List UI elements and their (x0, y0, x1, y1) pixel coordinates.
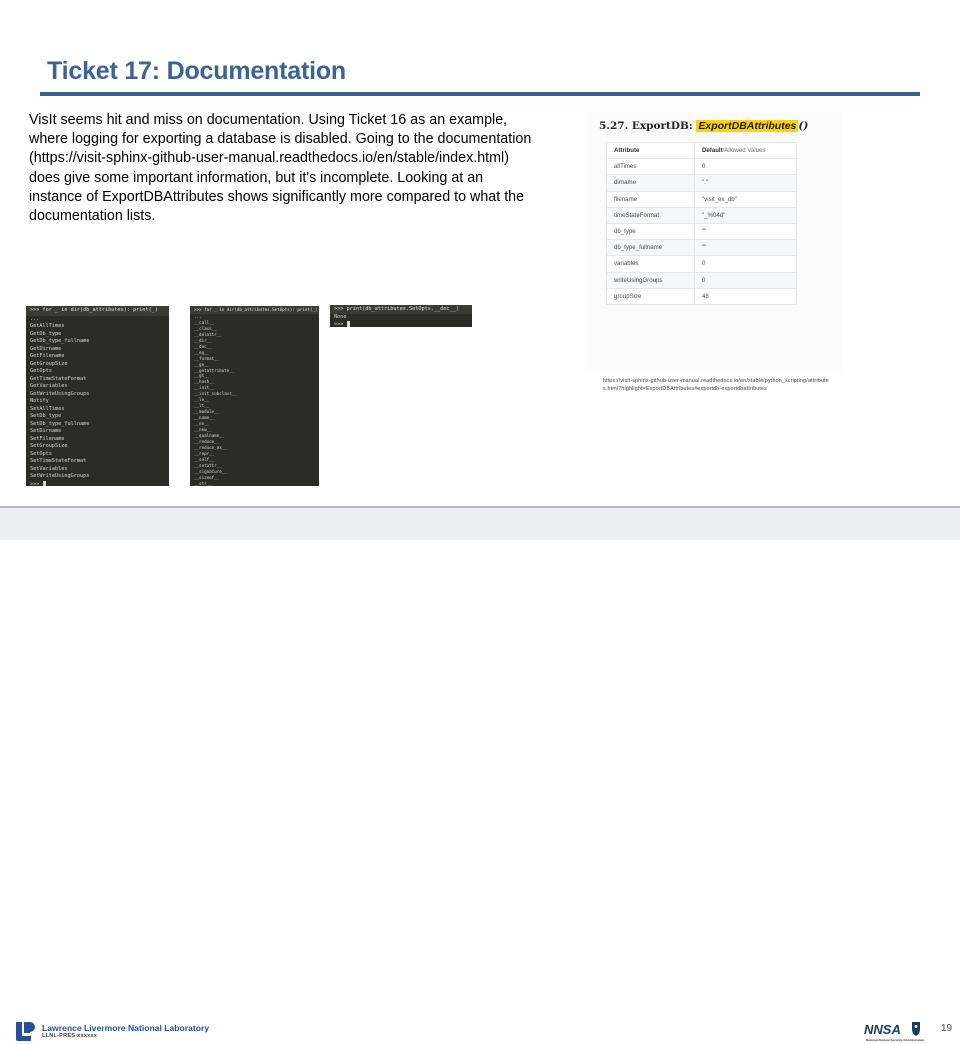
slide: Ticket 17: Documentation VisIt seems hit… (0, 0, 960, 540)
terminal-line: GetTimeStateFormat (30, 376, 166, 384)
table-row: timeStateFormat"_%04d" (607, 207, 797, 223)
terminal-line: GetOpts (30, 368, 166, 376)
terminal-line: __str__ (194, 481, 316, 486)
cell-default-value: "" (695, 240, 797, 256)
nnsa-logo-icon: NNSA National Nuclear Security Administr… (862, 1020, 934, 1044)
terminal-line: GetGroupSize (30, 361, 166, 369)
cell-attribute: writeUsingGroups (607, 272, 695, 288)
table-row: variables0 (607, 256, 797, 272)
terminal-dir-listing: >>> for _ in dir(db_attributes): print(_… (26, 306, 169, 486)
terminal-line: GetDirname (30, 346, 166, 354)
terminal-output: ...GetAllTimesGetDb_typeGetDb_type_fulln… (26, 316, 169, 481)
terminal-line: SetGroupSize (30, 443, 166, 451)
cursor-caret (347, 321, 350, 326)
docs-heading-suffix: () (798, 120, 808, 132)
footer-band: Lawrence Livermore National Laboratory L… (0, 508, 960, 540)
terminal-line: SetVariables (30, 466, 166, 474)
table-header-row: Attribute Default/Allowed Values (607, 143, 797, 159)
terminal-line: SetDb_type_fullname (30, 421, 166, 429)
terminal-line: SetDirname (30, 428, 166, 436)
docs-section-heading: 5.27. ExportDB: ExportDBAttributes() (599, 120, 808, 132)
llnl-logo-icon (14, 1021, 36, 1043)
terminal-prompt-line: >>> print(db_attributes.SetOpts.__doc__) (330, 305, 472, 314)
terminal-line: Notify (30, 398, 166, 406)
cell-default-value: 48 (695, 288, 797, 304)
table-row: filename"visit_ex_db" (607, 191, 797, 207)
terminal-line: GetFilename (30, 353, 166, 361)
table-row: dirname"." (607, 175, 797, 191)
terminal-line: SetTimeStateFormat (30, 458, 166, 466)
cell-default-value: "visit_ex_db" (695, 191, 797, 207)
terminal-line: SetAllTimes (30, 406, 166, 414)
terminal-line: GetDb_type (30, 331, 166, 339)
svg-text:National Nuclear Security Admi: National Nuclear Security Administration (866, 1038, 924, 1042)
docs-source-url: https://visit-sphinx-github-user-manual.… (603, 378, 829, 393)
terminal-line: SetFilename (30, 436, 166, 444)
llnl-org-name: Lawrence Livermore National Laboratory (42, 1023, 209, 1033)
terminal-doc-print: >>> print(db_attributes.SetOpts.__doc__)… (330, 305, 472, 327)
cell-default-value: 0 (695, 256, 797, 272)
cell-default-value: 0 (695, 159, 797, 175)
cell-attribute: filename (607, 191, 695, 207)
terminal-prompt-line: >>> for _ in dir(db_attributes): print(_… (26, 306, 169, 316)
cell-attribute: allTimes (607, 159, 695, 175)
terminal-line: GetDb_type_fullname (30, 338, 166, 346)
table-row: db_type_fullname"" (607, 240, 797, 256)
terminal-line: None (334, 314, 469, 321)
cell-attribute: db_type (607, 223, 695, 239)
cursor-caret (43, 481, 46, 486)
terminal-line: SetDb_type (30, 413, 166, 421)
terminal-line: GetWriteUsingGroups (30, 391, 166, 399)
title-divider (40, 92, 920, 96)
cell-default-value: "." (695, 175, 797, 191)
terminal-dunder-listing: >>> for _ in dir(db_attributes.SetOpts):… (190, 306, 319, 486)
cell-default-value: "" (695, 223, 797, 239)
terminal-prompt-line: >>> for _ in dir(db_attributes.SetOpts):… (190, 306, 319, 314)
table-row: allTimes0 (607, 159, 797, 175)
terminal-line: SetWriteUsingGroups (30, 473, 166, 481)
terminal-output: ...__call____class____delattr____dir____… (190, 314, 319, 486)
docs-heading-highlight: ExportDBAttributes (696, 120, 798, 132)
llnl-doc-code: LLNL-PRES-xxxxxx (42, 1033, 97, 1039)
column-header-default-allowed: Default/Allowed Values (695, 143, 797, 159)
table-row: writeUsingGroups0 (607, 272, 797, 288)
cell-attribute: dirname (607, 175, 695, 191)
docs-heading-prefix: 5.27. ExportDB: (599, 120, 696, 132)
page-title: Ticket 17: Documentation (47, 57, 346, 86)
terminal-line: SetOpts (30, 451, 166, 459)
table-body: allTimes0dirname"."filename"visit_ex_db"… (607, 159, 797, 305)
svg-text:NNSA: NNSA (864, 1022, 901, 1037)
cell-attribute: db_type_fullname (607, 240, 695, 256)
page-number: 19 (941, 1023, 952, 1034)
terminal-end-prompt: >>> (26, 481, 169, 487)
terminal-line: GetAllTimes (30, 323, 166, 331)
terminal-line: ... (30, 316, 166, 324)
terminal-end-prompt: >>> (330, 321, 472, 327)
cell-default-value: "_%04d" (695, 207, 797, 223)
body-paragraph: VisIt seems hit and miss on documentatio… (29, 111, 539, 226)
terminal-line: GetVariables (30, 383, 166, 391)
table-row: db_type"" (607, 223, 797, 239)
column-header-attribute: Attribute (607, 143, 695, 159)
cell-attribute: timeStateFormat (607, 207, 695, 223)
table-row: groupSize48 (607, 288, 797, 304)
documentation-screenshot: 5.27. ExportDB: ExportDBAttributes() Att… (585, 112, 843, 370)
terminal-output: None (330, 314, 472, 321)
cell-attribute: variables (607, 256, 695, 272)
attributes-table: Attribute Default/Allowed Values allTime… (606, 142, 797, 305)
cell-default-value: 0 (695, 272, 797, 288)
cell-attribute: groupSize (607, 288, 695, 304)
